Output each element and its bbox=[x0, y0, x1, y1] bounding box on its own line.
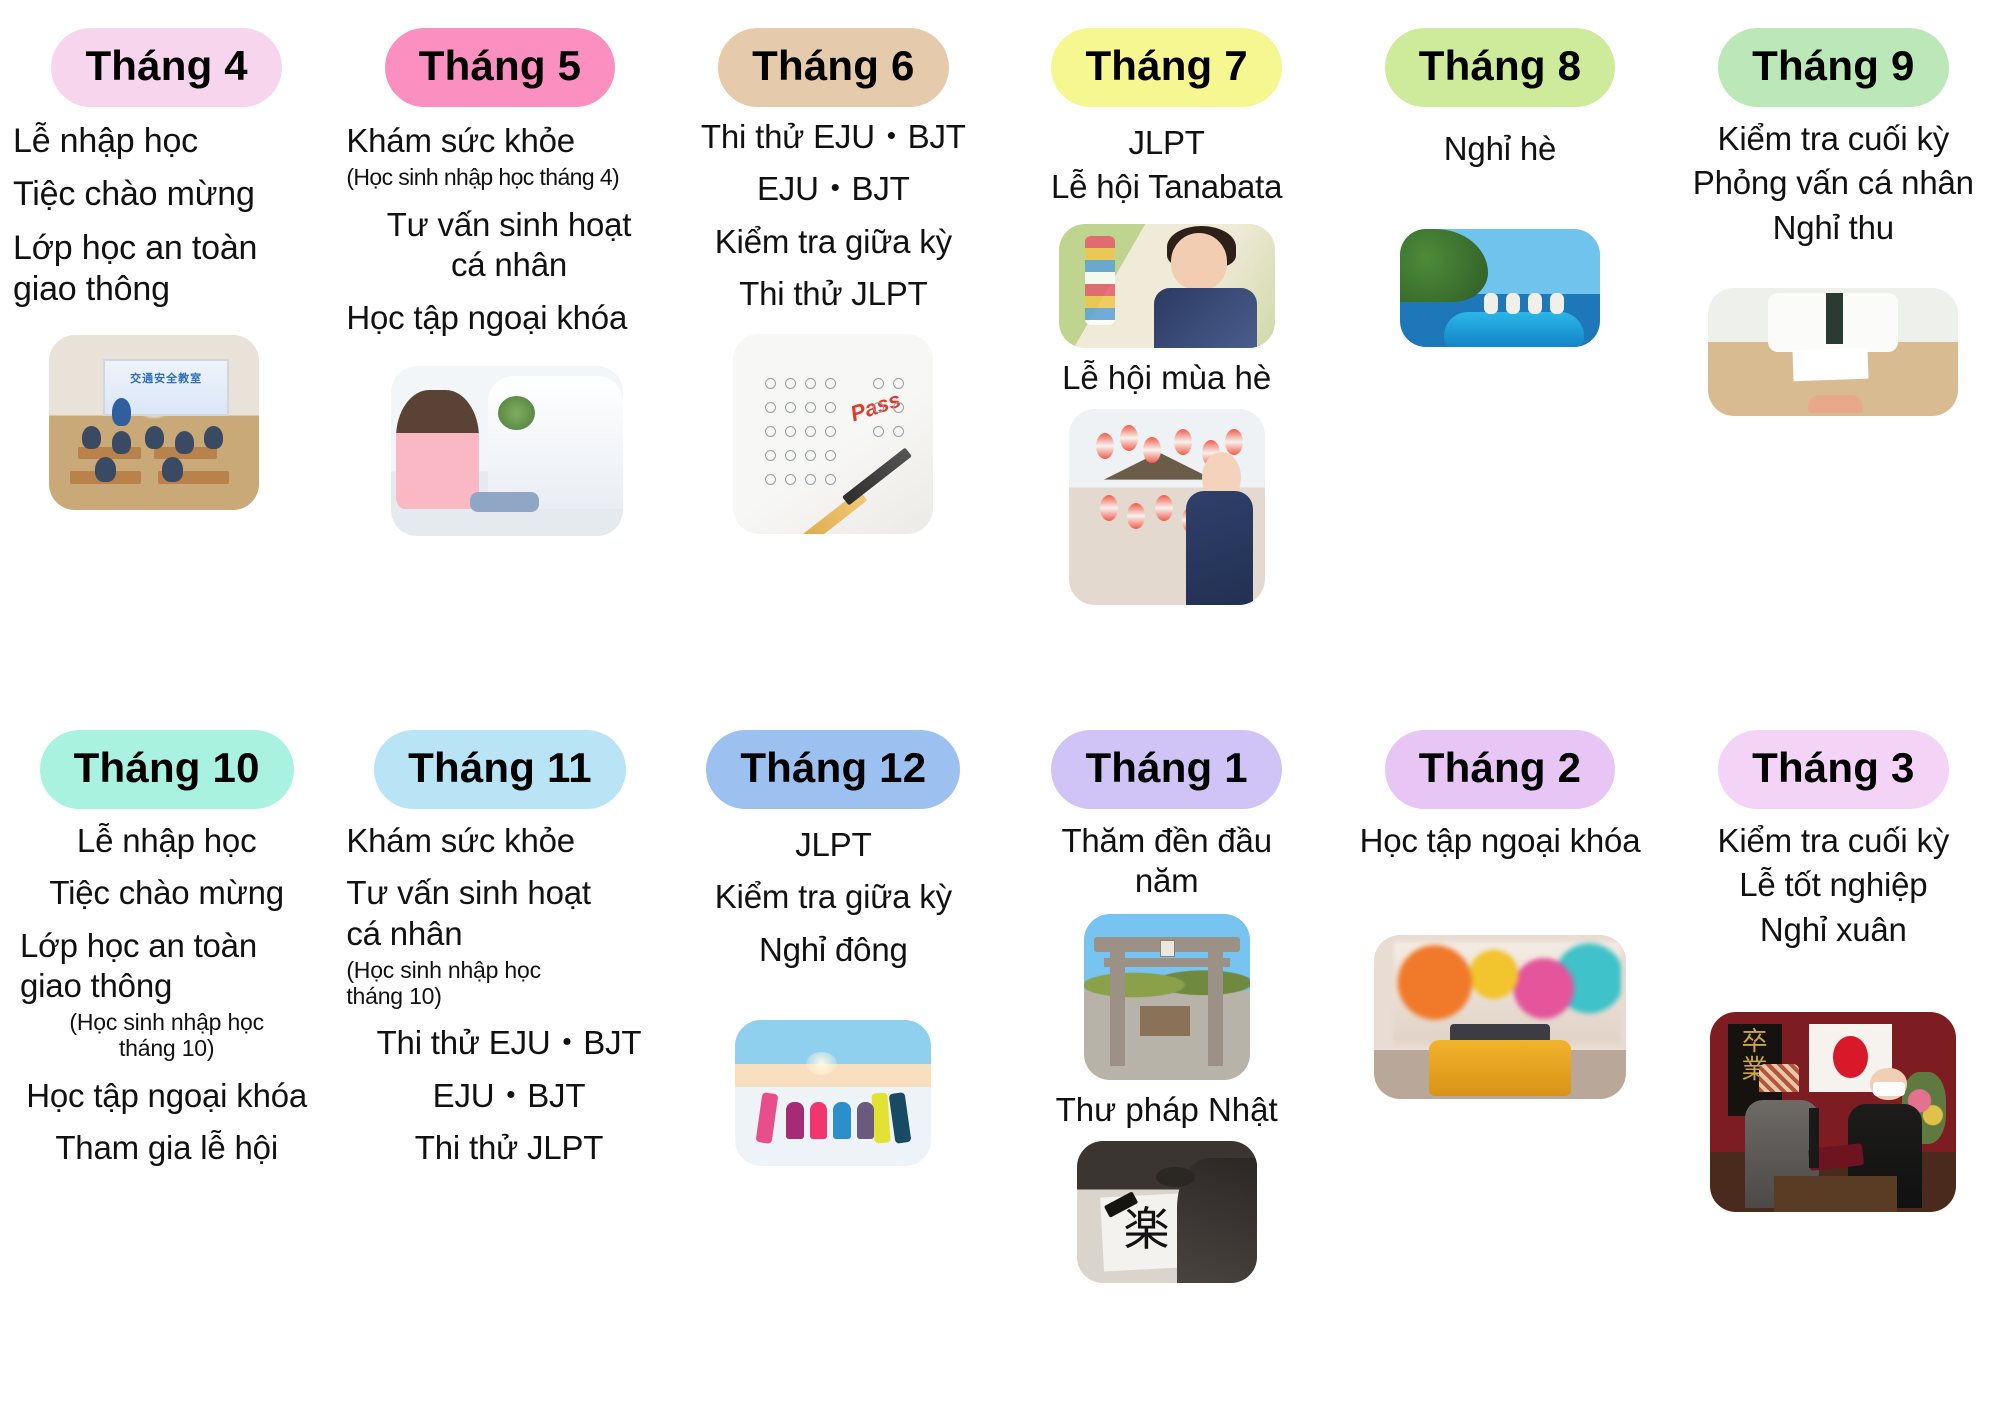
event-list-thang-11: Khám sức khỏe Tư vấn sinh hoạt cá nhân (… bbox=[328, 821, 671, 1180]
event-list-thang-3: Kiểm tra cuối kỳ Lễ tốt nghiệp Nghỉ xuân bbox=[1671, 821, 1996, 962]
month-badge-thang-11: Tháng 11 bbox=[374, 730, 626, 809]
hands bbox=[1808, 395, 1863, 413]
month-card-thang-8: Tháng 8 Nghỉ hè bbox=[1333, 0, 1666, 720]
month-badge-thang-10: Tháng 10 bbox=[40, 730, 294, 809]
event-list-thang-7: JLPT Lễ hội Tanabata bbox=[1004, 123, 1329, 220]
event-item: Lễ nhập học bbox=[4, 821, 329, 861]
shrine-torii-photo bbox=[1084, 914, 1250, 1080]
tanabata-festival-photo bbox=[1059, 224, 1275, 348]
event-item: Lễ hội Tanabata bbox=[1004, 167, 1329, 207]
skier bbox=[786, 1102, 804, 1140]
torii-pillar bbox=[1208, 947, 1223, 1067]
month-card-thang-12: Tháng 12 JLPT Kiểm tra giữa kỳ Nghỉ đông bbox=[667, 720, 1000, 1414]
document bbox=[1793, 348, 1869, 381]
torii-pillar bbox=[1110, 947, 1125, 1067]
student-head bbox=[112, 431, 131, 454]
month-badge-thang-3: Tháng 3 bbox=[1718, 730, 1948, 809]
student-head bbox=[162, 457, 183, 482]
skier bbox=[810, 1102, 828, 1140]
school-year-calendar: Tháng 4 Lễ nhập học Tiệc chào mừng Lớp h… bbox=[0, 0, 2000, 1414]
convertible-car bbox=[1444, 312, 1584, 347]
skier bbox=[857, 1102, 875, 1140]
sun bbox=[806, 1052, 837, 1075]
event-item: Khám sức khỏe bbox=[346, 121, 671, 161]
event-item: Tiệc chào mừng bbox=[13, 174, 338, 215]
podium bbox=[1774, 1176, 1897, 1212]
event-item: Thi thử JLPT bbox=[671, 274, 996, 314]
event-item: Phỏng vấn cá nhân bbox=[1671, 163, 1996, 203]
student-head bbox=[204, 426, 223, 449]
microphone-stand bbox=[1809, 1108, 1819, 1168]
event-item: Nghỉ thu bbox=[1671, 208, 1996, 248]
event-item: EJU・BJT bbox=[671, 169, 996, 209]
person bbox=[1550, 293, 1564, 314]
month-badge-thang-12: Tháng 12 bbox=[706, 730, 960, 809]
ink-stone bbox=[1156, 1167, 1196, 1187]
student-head bbox=[95, 457, 116, 482]
yukata bbox=[1154, 288, 1258, 348]
month-card-thang-2: Tháng 2 Học tập ngoại khóa bbox=[1333, 720, 1666, 1414]
event-item: JLPT bbox=[1004, 123, 1329, 163]
japanese-calligraphy-photo: 楽 bbox=[1077, 1141, 1257, 1283]
event-item: Học tập ngoại khóa bbox=[4, 1076, 329, 1116]
event-list-thang-1: Thăm đền đầu năm bbox=[1004, 821, 1329, 914]
month-card-thang-4: Tháng 4 Lễ nhập học Tiệc chào mừng Lớp h… bbox=[0, 0, 333, 720]
event-item: Tư vấn sinh hoạt cá nhân bbox=[346, 873, 671, 954]
month-card-thang-7: Tháng 7 JLPT Lễ hội Tanabata Lễ hội mùa … bbox=[1000, 0, 1333, 720]
calendar-row-first-half: Tháng 4 Lễ nhập học Tiệc chào mừng Lớp h… bbox=[0, 0, 2000, 720]
screen-text: 交通安全教室 bbox=[105, 370, 227, 386]
event-item: Lễ tốt nghiệp bbox=[1671, 865, 1996, 905]
event-item: Kiểm tra cuối kỳ bbox=[1671, 119, 1996, 159]
event-item: Thăm đền đầu năm bbox=[1004, 821, 1329, 902]
winter-ski-photo bbox=[735, 1020, 931, 1166]
event-note: (Học sinh nhập học tháng 10) bbox=[346, 958, 671, 1010]
month-badge-thang-6: Tháng 6 bbox=[718, 28, 948, 107]
event-note: (Học sinh nhập học tháng 4) bbox=[346, 165, 671, 191]
event-item: Lớp học an toàn giao thông bbox=[4, 926, 329, 1007]
event-item: Học tập ngoại khóa bbox=[1337, 821, 1662, 861]
month-card-thang-3: Tháng 3 Kiểm tra cuối kỳ Lễ tốt nghiệp N… bbox=[1667, 720, 2000, 1414]
event-list-thang-6: Thi thử EJU・BJT EJU・BJT Kiểm tra giữa kỳ… bbox=[671, 117, 996, 326]
event-item: Kiểm tra cuối kỳ bbox=[1671, 821, 1996, 861]
health-checkup-photo bbox=[391, 366, 623, 536]
event-list-thang-12: JLPT Kiểm tra giữa kỳ Nghỉ đông bbox=[671, 825, 996, 982]
month-badge-thang-4: Tháng 4 bbox=[51, 28, 281, 107]
field-trip-bus-photo bbox=[1374, 935, 1626, 1099]
event-item: Nghỉ hè bbox=[1337, 129, 1662, 169]
summer-matsuri-photo bbox=[1069, 409, 1265, 605]
event-list-thang-4: Lễ nhập học Tiệc chào mừng Lớp học an to… bbox=[0, 121, 338, 323]
event-item: Học tập ngoại khóa bbox=[346, 298, 671, 338]
month-card-thang-1: Tháng 1 Thăm đền đầu năm Thư pháp Nhật 楽 bbox=[1000, 720, 1333, 1414]
month-badge-thang-1: Tháng 1 bbox=[1051, 730, 1281, 809]
month-card-thang-10: Tháng 10 Lễ nhập học Tiệc chào mừng Lớp … bbox=[0, 720, 333, 1414]
event-item: Lớp học an toàn giao thông bbox=[13, 228, 338, 311]
month-badge-thang-8: Tháng 8 bbox=[1385, 28, 1615, 107]
event-note: (Học sinh nhập học tháng 10) bbox=[4, 1010, 329, 1062]
tanabata-streamer bbox=[1085, 236, 1115, 325]
face-mask bbox=[1873, 1082, 1905, 1096]
month-badge-thang-9: Tháng 9 bbox=[1718, 28, 1948, 107]
shrine-plaque bbox=[1160, 940, 1175, 957]
summer-vacation-beach-photo bbox=[1400, 229, 1600, 347]
event-list-thang-2: Học tập ngoại khóa bbox=[1337, 821, 1662, 873]
traffic-safety-class-photo: 交通安全教室 bbox=[49, 335, 259, 510]
ski bbox=[889, 1092, 911, 1143]
event-item: Khám sức khỏe bbox=[346, 821, 671, 861]
calligraphy-kanji: 楽 bbox=[1123, 1206, 1169, 1252]
event-item: EJU・BJT bbox=[346, 1076, 671, 1116]
calendar-row-second-half: Tháng 10 Lễ nhập học Tiệc chào mừng Lớp … bbox=[0, 720, 2000, 1414]
person bbox=[1506, 293, 1520, 314]
personal-interview-photo bbox=[1708, 288, 1958, 416]
event-list-thang-5: Khám sức khỏe (Học sinh nhập học tháng 4… bbox=[328, 121, 671, 350]
student-head bbox=[175, 431, 194, 454]
month-card-thang-11: Tháng 11 Khám sức khỏe Tư vấn sinh hoạt … bbox=[333, 720, 666, 1414]
person bbox=[1528, 293, 1542, 314]
event-list-thang-8: Nghỉ hè bbox=[1337, 129, 1662, 181]
person bbox=[1484, 293, 1498, 314]
month-badge-thang-2: Tháng 2 bbox=[1385, 730, 1615, 809]
topi-hat bbox=[1759, 1064, 1798, 1092]
patient-figure bbox=[396, 390, 480, 509]
skier bbox=[833, 1102, 851, 1140]
event-item: Kiểm tra giữa kỳ bbox=[671, 877, 996, 917]
doctor-coat bbox=[488, 376, 623, 509]
plant bbox=[498, 396, 535, 430]
pencil bbox=[842, 448, 912, 506]
event-item: Tư vấn sinh hoạt cá nhân bbox=[346, 205, 671, 286]
necktie bbox=[1826, 293, 1844, 344]
month-card-thang-6: Tháng 6 Thi thử EJU・BJT EJU・BJT Kiểm tra… bbox=[667, 0, 1000, 720]
event-item: Nghỉ xuân bbox=[1671, 910, 1996, 950]
shrine-building bbox=[1140, 1006, 1190, 1036]
photo-caption-summer-festival: Lễ hội mùa hè bbox=[1062, 358, 1271, 398]
presenter-figure bbox=[112, 398, 131, 426]
event-item: Kiểm tra giữa kỳ bbox=[671, 222, 996, 262]
face bbox=[1171, 233, 1227, 290]
event-item: Thi thử EJU・BJT bbox=[346, 1023, 671, 1063]
blood-pressure-cuff bbox=[470, 492, 540, 512]
event-item: Nghỉ đông bbox=[671, 930, 996, 970]
event-item: Thi thử JLPT bbox=[346, 1128, 671, 1168]
ski bbox=[755, 1092, 777, 1143]
event-list-thang-9: Kiểm tra cuối kỳ Phỏng vấn cá nhân Nghỉ … bbox=[1671, 119, 1996, 260]
student-head bbox=[145, 426, 164, 449]
answer-sheet-photo: Pass bbox=[733, 334, 933, 534]
graduation-ceremony-photo: 卒業 bbox=[1710, 1012, 1956, 1212]
event-list-thang-10: Lễ nhập học Tiệc chào mừng Lớp học an to… bbox=[4, 821, 329, 1180]
event-item: Lễ nhập học bbox=[13, 121, 338, 162]
photo-caption-calligraphy: Thư pháp Nhật bbox=[1056, 1090, 1278, 1130]
student-head bbox=[82, 426, 101, 449]
month-card-thang-5: Tháng 5 Khám sức khỏe (Học sinh nhập học… bbox=[333, 0, 666, 720]
event-item: JLPT bbox=[671, 825, 996, 865]
event-item: Tham gia lễ hội bbox=[4, 1128, 329, 1168]
event-item: Thi thử EJU・BJT bbox=[671, 117, 996, 157]
tree bbox=[1400, 229, 1488, 302]
yukata bbox=[1186, 491, 1253, 605]
month-card-thang-9: Tháng 9 Kiểm tra cuối kỳ Phỏng vấn cá nh… bbox=[1667, 0, 2000, 720]
month-badge-thang-5: Tháng 5 bbox=[385, 28, 615, 107]
flag-sun-disc bbox=[1833, 1036, 1867, 1078]
event-item: Tiệc chào mừng bbox=[4, 873, 329, 913]
month-badge-thang-7: Tháng 7 bbox=[1051, 28, 1281, 107]
toy-bus bbox=[1429, 1040, 1570, 1096]
